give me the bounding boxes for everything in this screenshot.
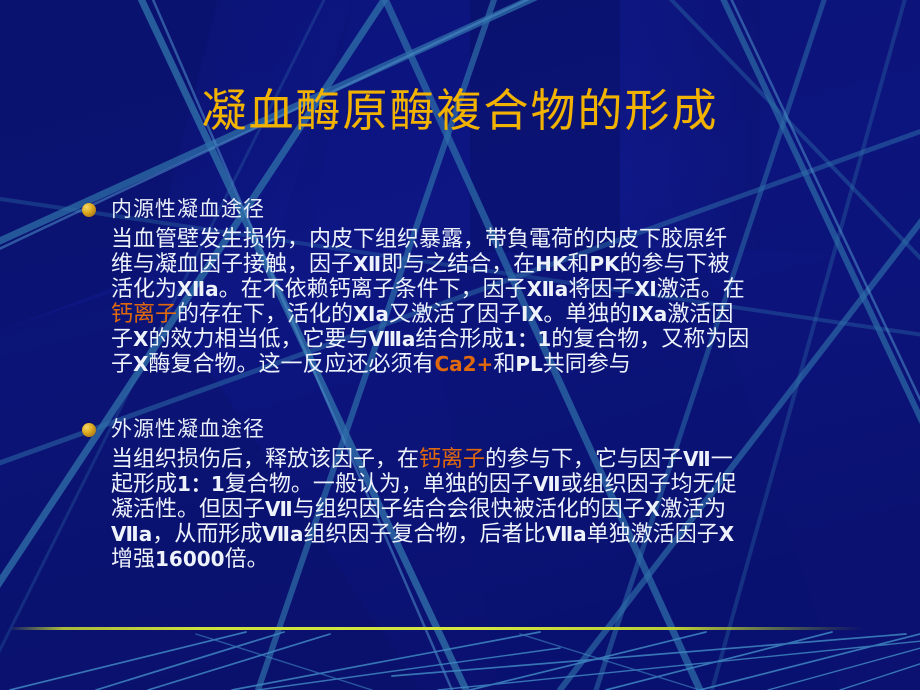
text-run: ，从而形成 (152, 522, 262, 547)
text-run: 活化为 (111, 277, 177, 302)
page-title: 凝血酶原酶複合物的形成 (0, 84, 920, 138)
text-run: Ⅺa (353, 302, 389, 326)
text-run: Ⅶ (683, 447, 711, 471)
text-run: X (133, 327, 148, 351)
content-block-endogenous: 内源性凝血途径 当血管壁发生损伤，内皮下组织暴露，带負電荷的内皮下胶原纤维与凝血… (78, 198, 868, 377)
text-run: Ⅻa (527, 277, 569, 301)
paragraph-exogenous: 当组织损伤后，释放该因子，在钙离子的参与下，它与因子Ⅶ一起形成1：1复合物。一般… (111, 447, 851, 572)
paragraph-endogenous: 当血管壁发生损伤，内皮下组织暴露，带負電荷的内皮下胶原纤维与凝血因子接触，因子Ⅻ… (111, 227, 851, 377)
text-run: 一 (711, 447, 733, 472)
list-item: 外源性凝血途径 (78, 418, 868, 444)
text-run: 增强 (111, 547, 155, 572)
text-run: Ⅶ (533, 472, 561, 496)
text-run: 的复合物，又称为因 (551, 327, 749, 352)
text-line: 增强16000倍。 (111, 547, 851, 572)
text-run: 的参与下被 (620, 252, 730, 277)
text-run: 子 (111, 327, 133, 352)
text-line: 起形成1：1复合物。一般认为，单独的因子Ⅶ或组织因子均无促 (111, 472, 851, 497)
highlighted-term: 钙离子 (419, 447, 485, 472)
text-run: PK (589, 252, 619, 276)
text-run: 又激活了因子 (389, 302, 521, 327)
highlighted-term: 钙离子 (111, 302, 177, 327)
text-run: 起形成 (111, 472, 177, 497)
text-run: 激活为 (660, 497, 726, 522)
text-run: 子 (111, 352, 133, 377)
text-run: 16000 (155, 547, 225, 571)
text-run: 单独激活因子 (587, 522, 719, 547)
text-run: 复合物。一般认为，单独的因子 (225, 472, 533, 497)
bullet-heading-endogenous: 内源性凝血途径 (111, 196, 265, 222)
highlighted-term: Ca2+ (434, 352, 493, 376)
text-run: 或组织因子均无促 (561, 472, 737, 497)
text-run: 将因子 (568, 277, 634, 302)
text-line: 当组织损伤后，释放该因子，在钙离子的参与下，它与因子Ⅶ一 (111, 447, 851, 472)
text-run: Ⅹ (645, 497, 660, 521)
text-run: 激活因 (667, 302, 733, 327)
text-run: 。单独的 (543, 302, 631, 327)
text-run: 激活。在 (657, 277, 745, 302)
text-run: Ⅶa (262, 522, 303, 546)
text-line: 活化为Ⅻa。在不依赖钙离子条件下，因子Ⅻa将因子Ⅺ激活。在 (111, 277, 851, 302)
text-run: 倍。 (225, 547, 269, 572)
text-run: 和 (567, 252, 589, 277)
text-run: 1：1 (177, 472, 225, 496)
content-block-exogenous: 外源性凝血途径 当组织损伤后，释放该因子，在钙离子的参与下，它与因子Ⅶ一起形成1… (78, 418, 868, 572)
bullet-sphere-icon (82, 203, 96, 217)
text-run: 组织因子复合物，后者比 (303, 522, 545, 547)
text-run: 酶复合物。这一反应还必须有 (148, 352, 434, 377)
text-run: Ⅷa (368, 327, 415, 351)
text-run: 结合形成 (415, 327, 503, 352)
text-line: 维与凝血因子接触，因子Ⅻ即与之结合，在HK和PK的参与下被 (111, 252, 851, 277)
text-run: 的参与下，它与因子 (485, 447, 683, 472)
text-run: Ⅻ (353, 252, 381, 276)
text-line: 凝活性。但因子Ⅶ与组织因子结合会很快被活化的因子Ⅹ激活为 (111, 497, 851, 522)
list-item: 内源性凝血途径 (78, 198, 868, 224)
presentation-slide: 凝血酶原酶複合物的形成 内源性凝血途径 当血管壁发生损伤，内皮下组织暴露，带負電… (0, 0, 920, 690)
text-run: 的存在下，活化的 (177, 302, 353, 327)
text-run: Ⅶa (111, 522, 152, 546)
text-run: PL (515, 352, 542, 376)
text-run: 维与凝血因子接触，因子 (111, 252, 353, 277)
text-run: 当血管壁发生损伤，内皮下组织暴露，带負電荷的内皮下胶原纤 (111, 227, 727, 252)
bottom-accent-rule (12, 627, 864, 630)
text-run: 共同参与 (543, 352, 631, 377)
text-run: 凝活性。但因子 (111, 497, 265, 522)
text-line: Ⅶa，从而形成Ⅶa组织因子复合物，后者比Ⅶa单独激活因子Ⅹ (111, 522, 851, 547)
text-run: X (133, 352, 148, 376)
text-run: Ⅺ (634, 277, 656, 301)
bullet-heading-exogenous: 外源性凝血途径 (111, 416, 265, 442)
text-run: Ⅸa (631, 302, 667, 326)
text-line: 子X酶复合物。这一反应还必须有Ca2+和PL共同参与 (111, 352, 851, 377)
text-run: 与组织因子结合会很快被活化的因子 (293, 497, 645, 522)
bullet-sphere-icon (82, 423, 96, 437)
text-line: 当血管壁发生损伤，内皮下组织暴露，带負電荷的内皮下胶原纤 (111, 227, 851, 252)
text-run: Ⅶ (265, 497, 293, 521)
text-run: HK (535, 252, 567, 276)
text-run: 和 (493, 352, 515, 377)
text-run: 的效力相当低，它要与 (148, 327, 368, 352)
text-run: Ⅸ (521, 302, 543, 326)
text-line: 子X的效力相当低，它要与Ⅷa结合形成1：1的复合物，又称为因 (111, 327, 851, 352)
text-run: Ⅻa (177, 277, 219, 301)
text-run: 即与之结合，在 (381, 252, 535, 277)
text-run: 1：1 (503, 327, 551, 351)
text-run: 当组织损伤后，释放该因子，在 (111, 447, 419, 472)
text-run: Ⅶa (545, 522, 586, 546)
text-run: Ⅹ (719, 522, 734, 546)
text-line: 钙离子的存在下，活化的Ⅺa又激活了因子Ⅸ。单独的Ⅸa激活因 (111, 302, 851, 327)
text-run: 。在不依赖钙离子条件下，因子 (219, 277, 527, 302)
